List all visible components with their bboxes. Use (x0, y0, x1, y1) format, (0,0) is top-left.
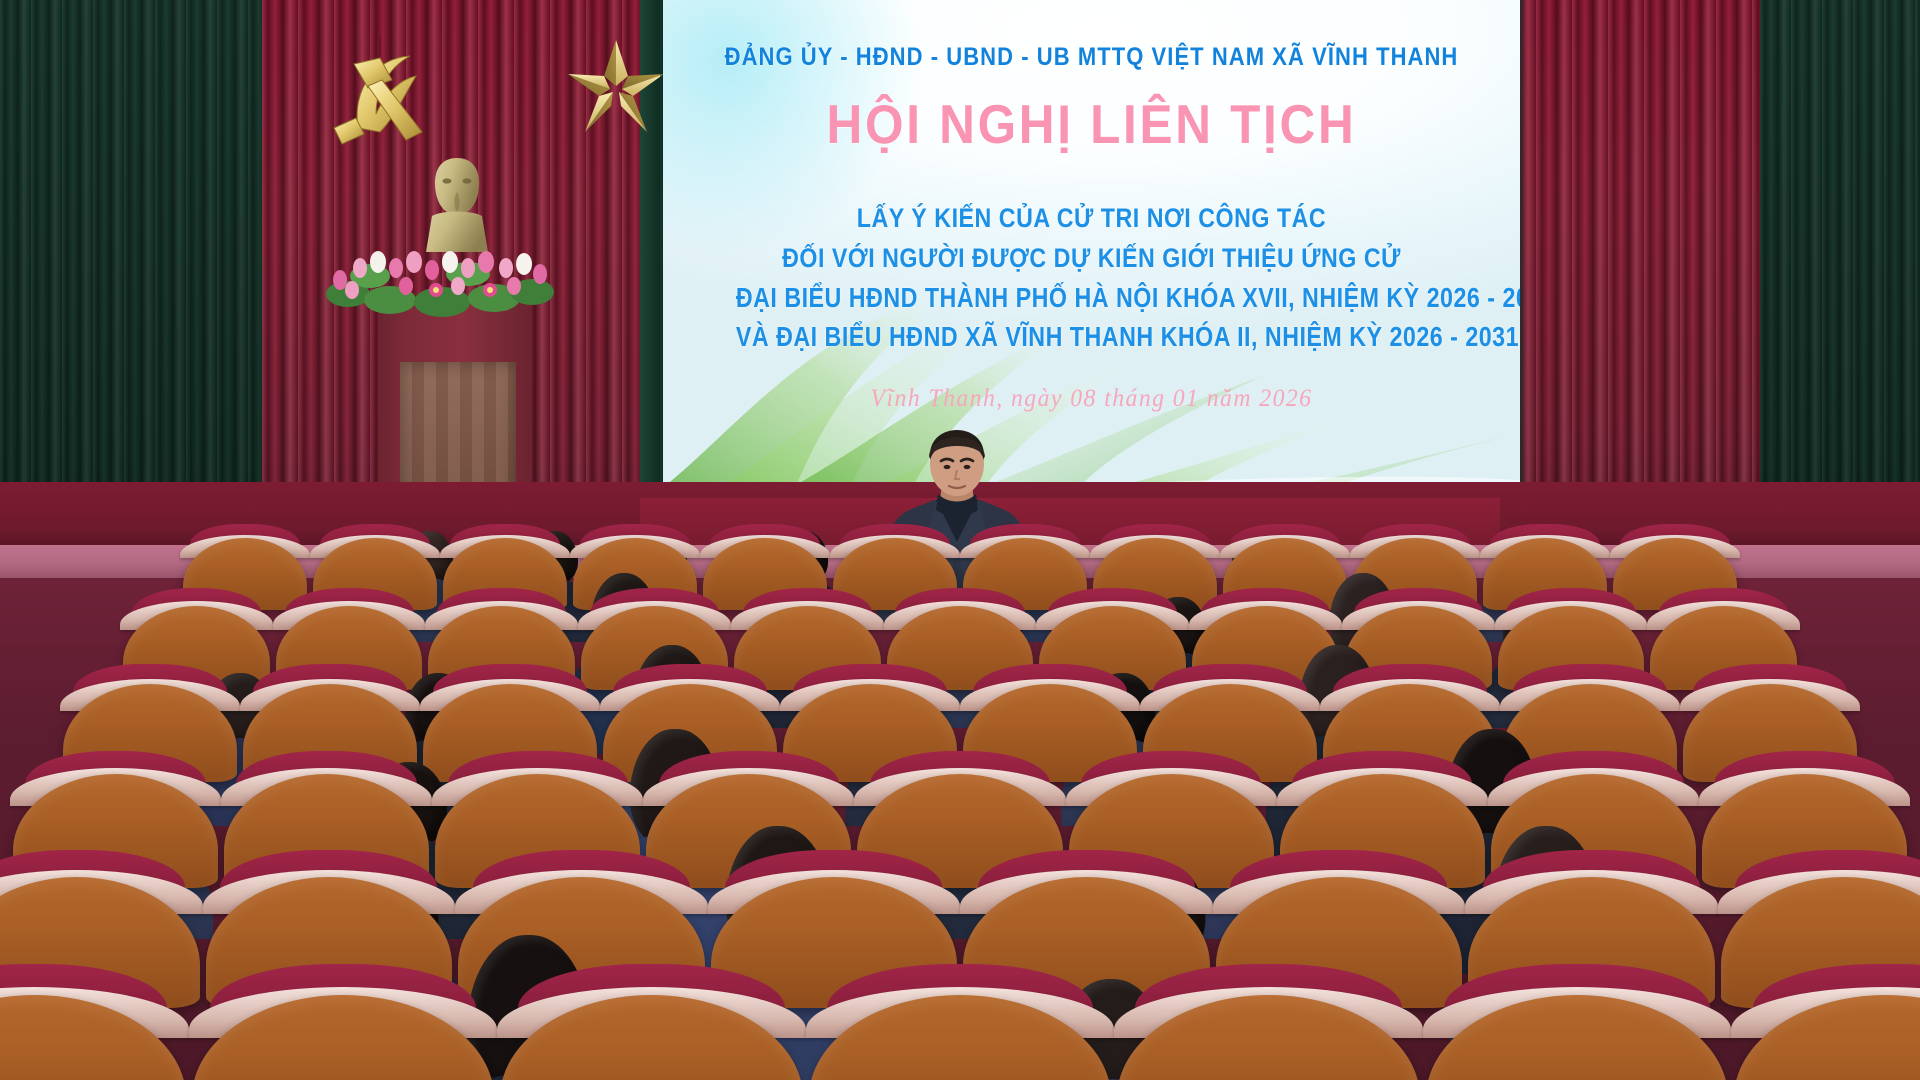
slide-subtitle-line-2: ĐỐI VỚI NGƯỜI ĐƯỢC DỰ KIẾN GIỚI THIỆU ỨN… (723, 243, 1460, 274)
slide-subtitle-line-3: ĐẠI BIỂU HĐND THÀNH PHỐ HÀ NỘI KHÓA XVII… (736, 282, 1447, 314)
auditorium-seat (1117, 952, 1420, 1080)
slide-subtitle-line-1: LẤY Ý KIẾN CỦA CỬ TRI NƠI CÔNG TÁC (723, 203, 1460, 234)
auditorium-seat (1426, 952, 1729, 1080)
conference-hall-photo: ĐẢNG ỦY - HĐND - UBND - UB MTTQ VIỆT NAM… (0, 0, 1920, 1080)
slide-title: HỘI NGHỊ LIÊN TỊCH (706, 92, 1477, 156)
auditorium-seat (0, 952, 186, 1080)
auditorium-seat (192, 952, 495, 1080)
led-presentation-screen: ĐẢNG ỦY - HĐND - UBND - UB MTTQ VIỆT NAM… (663, 0, 1520, 516)
hammer-and-sickle-icon (318, 36, 442, 148)
audience-seat-row (0, 952, 1920, 1080)
auditorium-seat (809, 952, 1112, 1080)
auditorium-seat (500, 952, 803, 1080)
lotus-flower-arrangement (318, 228, 560, 320)
five-pointed-star-icon (563, 34, 669, 138)
auditorium-seat (1734, 952, 1920, 1080)
slide-organization-line: ĐẢNG ỦY - HĐND - UBND - UB MTTQ VIỆT NAM… (714, 43, 1468, 72)
slide-date-line: Vĩnh Thanh, ngày 08 tháng 01 năm 2026 (684, 385, 1498, 413)
slide-subtitle-line-4: VÀ ĐẠI BIỂU HĐND XÃ VĨNH THANH KHÓA II, … (736, 321, 1447, 353)
seated-audience (0, 500, 1920, 1080)
